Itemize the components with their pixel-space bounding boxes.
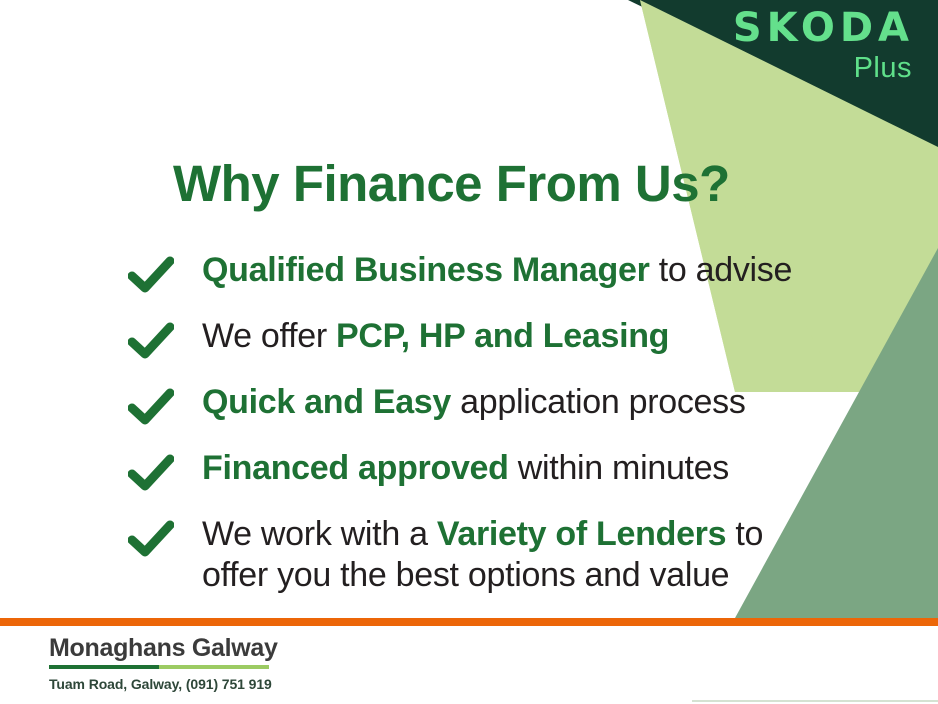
list-item: Qualified Business Manager to advise	[128, 250, 828, 296]
benefit-text: We offer PCP, HP and Leasing	[202, 316, 828, 357]
check-icon	[128, 322, 174, 362]
dealer-name: Monaghans Galway	[49, 634, 278, 663]
dealer-footer: Monaghans Galway Tuam Road, Galway, (091…	[49, 634, 278, 692]
list-item: Financed approved within minutes	[128, 448, 828, 494]
list-item: Quick and Easy application process	[128, 382, 828, 428]
check-icon	[128, 520, 174, 560]
benefit-text: Quick and Easy application process	[202, 382, 828, 423]
benefit-plain: to advise	[650, 251, 793, 289]
skoda-plus-logo: SKODA Plus	[733, 8, 914, 83]
benefit-plain: application process	[451, 383, 746, 421]
dealer-name-underline	[49, 665, 269, 669]
benefit-text: Qualified Business Manager to advise	[202, 250, 828, 291]
benefit-highlight: Variety of Lenders	[437, 515, 726, 553]
benefit-highlight: Qualified Business Manager	[202, 251, 650, 289]
orange-accent-bar	[0, 618, 938, 626]
check-icon	[128, 256, 174, 296]
benefit-highlight: PCP, HP and Leasing	[336, 317, 669, 355]
list-item: We offer PCP, HP and Leasing	[128, 316, 828, 362]
plus-subword: Plus	[733, 54, 912, 83]
benefits-list: Qualified Business Manager to adviseWe o…	[128, 250, 828, 617]
benefit-plain: within minutes	[509, 449, 729, 487]
finance-promo-poster: SKODA Plus Why Finance From Us? Qualifie…	[0, 0, 938, 704]
benefit-highlight: Financed approved	[202, 449, 509, 487]
dealer-address: Tuam Road, Galway, (091) 751 919	[49, 676, 278, 692]
benefit-text: Financed approved within minutes	[202, 448, 828, 489]
benefit-plain: We work with a	[202, 515, 437, 553]
check-icon	[128, 454, 174, 494]
bottom-right-rule	[692, 700, 938, 702]
page-title: Why Finance From Us?	[173, 157, 730, 211]
skoda-wordmark-icon: SKODA	[733, 8, 914, 48]
list-item: We work with a Variety of Lenders to off…	[128, 514, 828, 597]
benefit-highlight: Quick and Easy	[202, 383, 451, 421]
benefit-plain: We offer	[202, 317, 336, 355]
check-icon	[128, 388, 174, 428]
benefit-text: We work with a Variety of Lenders to off…	[202, 514, 828, 597]
